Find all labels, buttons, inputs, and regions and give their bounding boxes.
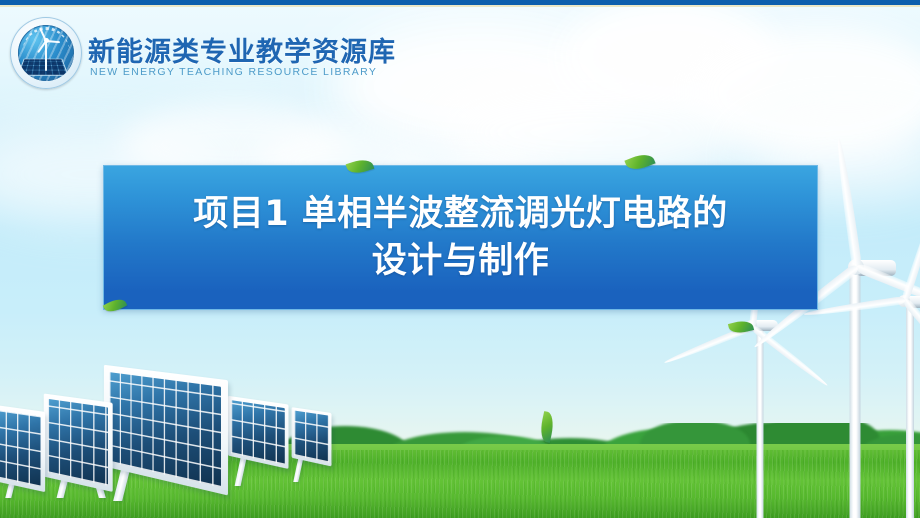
project-title: 项目1 单相半波整流调光灯电路的 设计与制作 [141, 191, 781, 283]
site-title-en: NEW ENERGY TEACHING RESOURCE LIBRARY [90, 66, 377, 78]
solar-panel-icon [18, 59, 69, 76]
wind-turbine [840, 262, 920, 518]
slide-canvas: 项目1 单相半波整流调光灯电路的 设计与制作 新能源类专业教学资源库 NEW E… [0, 0, 920, 518]
site-header: 新能源类专业教学资源库 NEW ENERGY TEACHING RESOURCE… [0, 7, 470, 95]
new-energy-emblem-logo [10, 17, 82, 89]
site-title-cn: 新能源类专业教学资源库 [88, 30, 396, 69]
solar-panel-array [0, 350, 340, 518]
project-title-banner: 项目1 单相半波整流调光灯电路的 设计与制作 [103, 165, 818, 310]
gold-rule-line [0, 5, 920, 7]
